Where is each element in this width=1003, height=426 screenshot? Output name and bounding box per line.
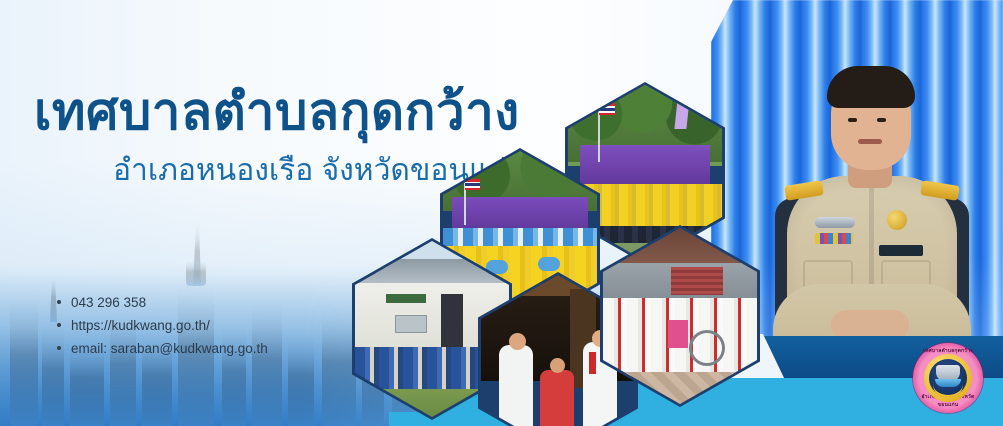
seal-center-emblem — [929, 359, 967, 397]
thai-flag-icon — [465, 179, 480, 190]
thai-flag-icon — [599, 103, 615, 115]
seal-wheat-icon — [933, 381, 963, 397]
municipality-banner: เทศบาลตำบลกุดกว้าง อำเภอหนองเรือ จังหวัด… — [0, 0, 1003, 426]
hexagon-photo-collage — [0, 0, 1003, 426]
municipal-seal-logo[interactable]: เทศบาลตำบลกุดกว้าง อำเภอหนองเรือ จังหวัด… — [913, 343, 983, 413]
